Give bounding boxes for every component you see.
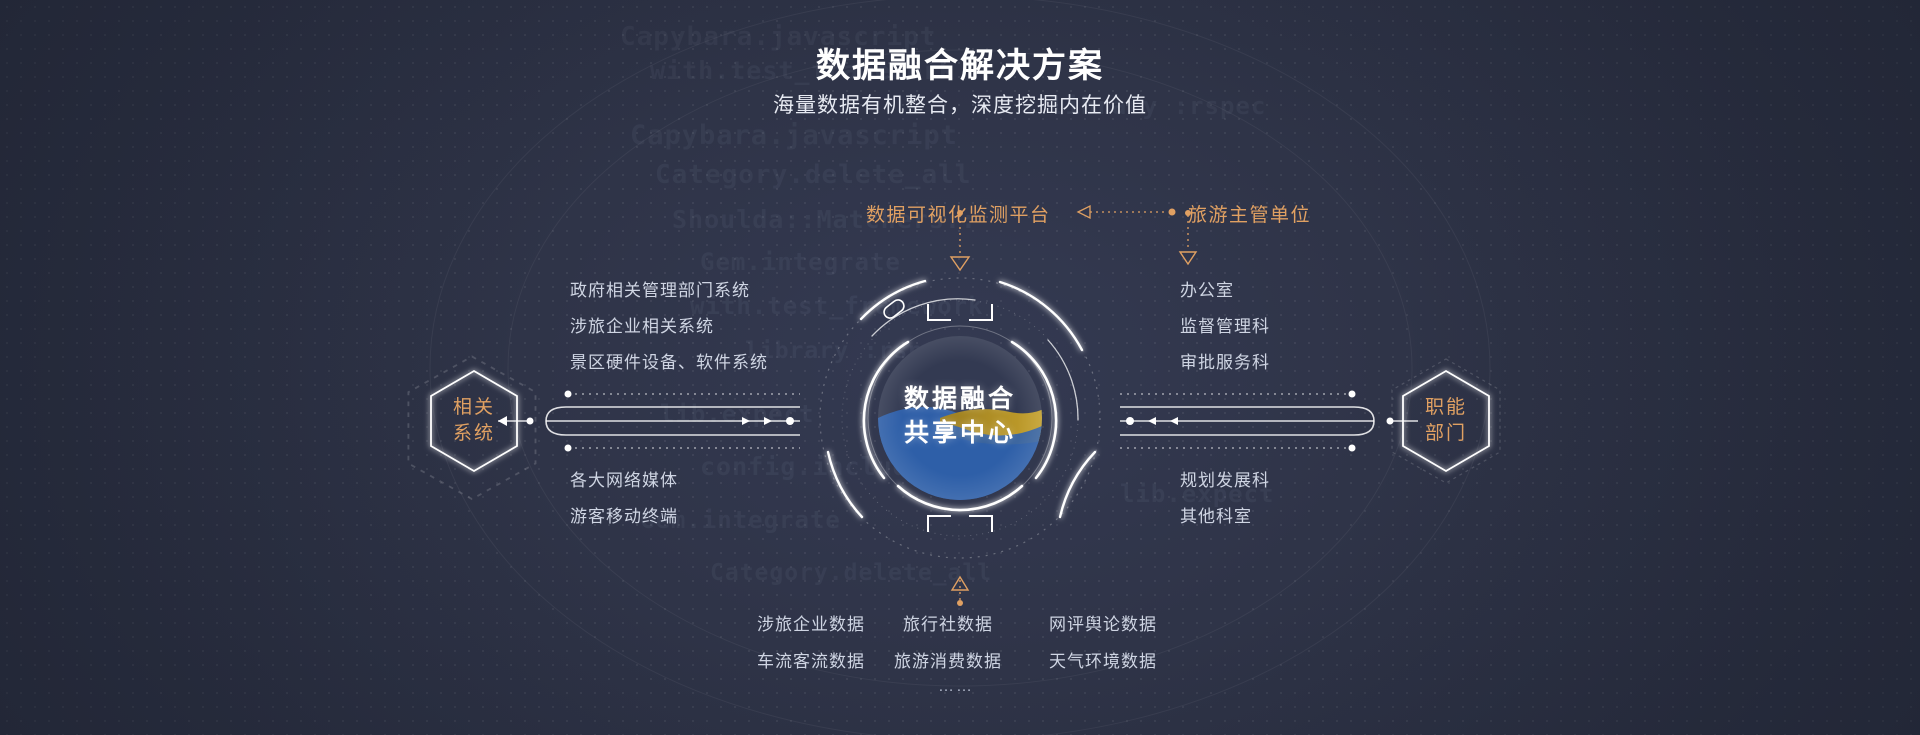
right-hexagon-label: 职能 部门	[1396, 395, 1496, 447]
infographic-stage: Capybara.javascript with.test_framework …	[0, 0, 1920, 735]
hub-title-line2: 共享中心	[860, 416, 1060, 450]
label-visualization-platform[interactable]: 数据可视化监测平台	[866, 200, 1051, 227]
label-tourism-authority[interactable]: 旅游主管单位	[1188, 200, 1311, 227]
bottom-item-c2-r2: 旅游消费数据	[894, 647, 1002, 672]
hub-title-line1: 数据融合	[860, 382, 1060, 416]
right-connector-group	[1120, 391, 1418, 452]
bottom-feed-connector	[952, 577, 968, 606]
bottom-item-c2-r1: 旅行社数据	[903, 610, 993, 635]
right-item-0: 办公室	[1180, 276, 1234, 301]
page-title: 数据融合解决方案	[0, 38, 1920, 87]
left-item-1: 涉旅企业相关系统	[570, 312, 714, 337]
hub-title: 数据融合 共享中心	[860, 382, 1060, 450]
bottom-item-c3-r1: 网评舆论数据	[1049, 610, 1157, 635]
page-subtitle: 海量数据有机整合，深度挖掘内在价值	[0, 89, 1920, 119]
right-hexagon-label-line1: 职能	[1396, 395, 1496, 421]
left-item-2: 景区硬件设备、软件系统	[570, 348, 768, 373]
bottom-item-c1-r2: 车流客流数据	[757, 647, 865, 672]
left-bottom-item-1: 游客移动终端	[570, 502, 678, 527]
left-hexagon-label-line1: 相关	[424, 395, 524, 421]
right-bottom-item-1: 其他科室	[1180, 502, 1252, 527]
left-hexagon-label-line2: 系统	[424, 421, 524, 447]
bottom-item-c1-r1: 涉旅企业数据	[757, 610, 865, 635]
left-hexagon-label: 相关 系统	[424, 395, 524, 447]
right-item-1: 监督管理科	[1180, 312, 1270, 337]
right-hexagon-label-line2: 部门	[1396, 421, 1496, 447]
left-bottom-item-0: 各大网络媒体	[570, 466, 678, 491]
right-bottom-item-0: 规划发展科	[1180, 466, 1270, 491]
left-connector-group	[498, 391, 800, 452]
bottom-item-c3-r2: 天气环境数据	[1049, 647, 1157, 672]
bottom-more-ellipsis: ……	[938, 678, 974, 696]
right-item-2: 审批服务科	[1180, 348, 1270, 373]
left-item-0: 政府相关管理部门系统	[570, 276, 750, 301]
